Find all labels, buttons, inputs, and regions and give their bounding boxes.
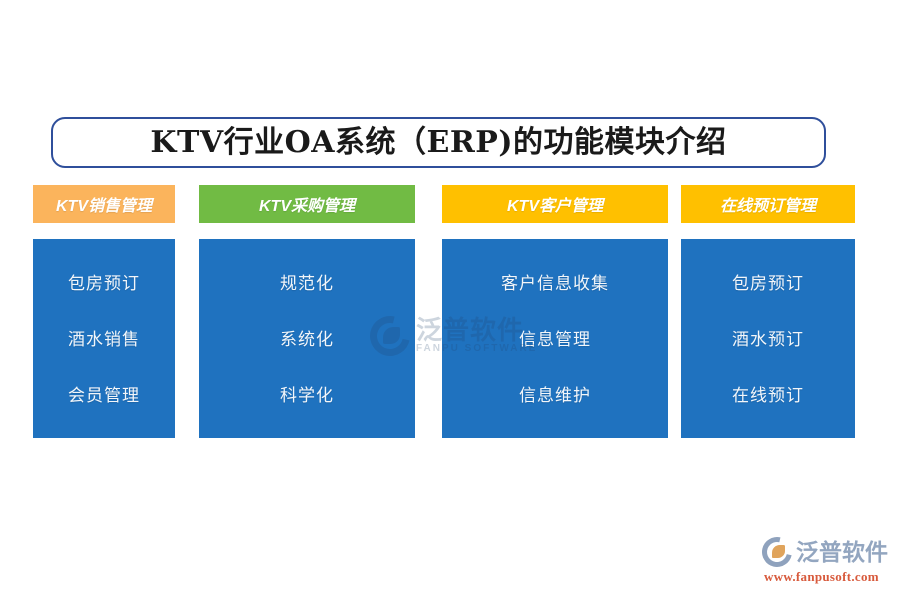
list-item[interactable]: 包房预订 <box>732 269 804 294</box>
list-item[interactable]: 酒水销售 <box>68 325 140 350</box>
page-title: KTV行业OA系统（ERP)的功能模块介绍 <box>150 128 726 158</box>
list-item[interactable]: 科学化 <box>280 381 334 406</box>
fanpu-logo-icon <box>762 537 792 567</box>
column-header-customer[interactable]: KTV客户管理 <box>442 185 668 223</box>
list-item[interactable]: 信息维护 <box>519 381 591 406</box>
column-header-sales[interactable]: KTV销售管理 <box>33 185 175 223</box>
logo-brand-cn: 泛普软件 <box>796 541 888 564</box>
column-header-label: 在线预订管理 <box>720 192 816 216</box>
column-header-label: KTV销售管理 <box>56 192 152 216</box>
column-body-sales: 包房预订 酒水销售 会员管理 <box>33 239 175 438</box>
list-item[interactable]: 酒水预订 <box>732 325 804 350</box>
title-box: KTV行业OA系统（ERP)的功能模块介绍 <box>51 117 826 168</box>
list-item[interactable]: 客户信息收集 <box>501 269 609 294</box>
brand-logo: 泛普软件 www.fanpusoft.com <box>762 536 894 586</box>
list-item[interactable]: 信息管理 <box>519 325 591 350</box>
logo-website-url: www.fanpusoft.com <box>764 569 879 585</box>
column-header-purchasing[interactable]: KTV采购管理 <box>199 185 415 223</box>
list-item[interactable]: 会员管理 <box>68 381 140 406</box>
column-header-label: KTV采购管理 <box>259 192 355 216</box>
list-item[interactable]: 在线预订 <box>732 381 804 406</box>
list-item[interactable]: 规范化 <box>280 269 334 294</box>
module-column-customer: KTV客户管理 客户信息收集 信息管理 信息维护 <box>442 185 668 438</box>
module-column-purchasing: KTV采购管理 规范化 系统化 科学化 <box>199 185 415 438</box>
logo-row: 泛普软件 <box>762 536 888 568</box>
column-header-label: KTV客户管理 <box>507 192 603 216</box>
list-item[interactable]: 系统化 <box>280 325 334 350</box>
list-item[interactable]: 包房预订 <box>68 269 140 294</box>
column-body-purchasing: 规范化 系统化 科学化 <box>199 239 415 438</box>
module-column-online-booking: 在线预订管理 包房预订 酒水预订 在线预订 <box>681 185 855 438</box>
module-column-sales: KTV销售管理 包房预订 酒水销售 会员管理 <box>33 185 175 438</box>
column-body-online-booking: 包房预订 酒水预订 在线预订 <box>681 239 855 438</box>
column-body-customer: 客户信息收集 信息管理 信息维护 <box>442 239 668 438</box>
column-header-online-booking[interactable]: 在线预订管理 <box>681 185 855 223</box>
module-columns: KTV销售管理 包房预订 酒水销售 会员管理 KTV采购管理 规范化 系统化 科… <box>33 185 855 438</box>
